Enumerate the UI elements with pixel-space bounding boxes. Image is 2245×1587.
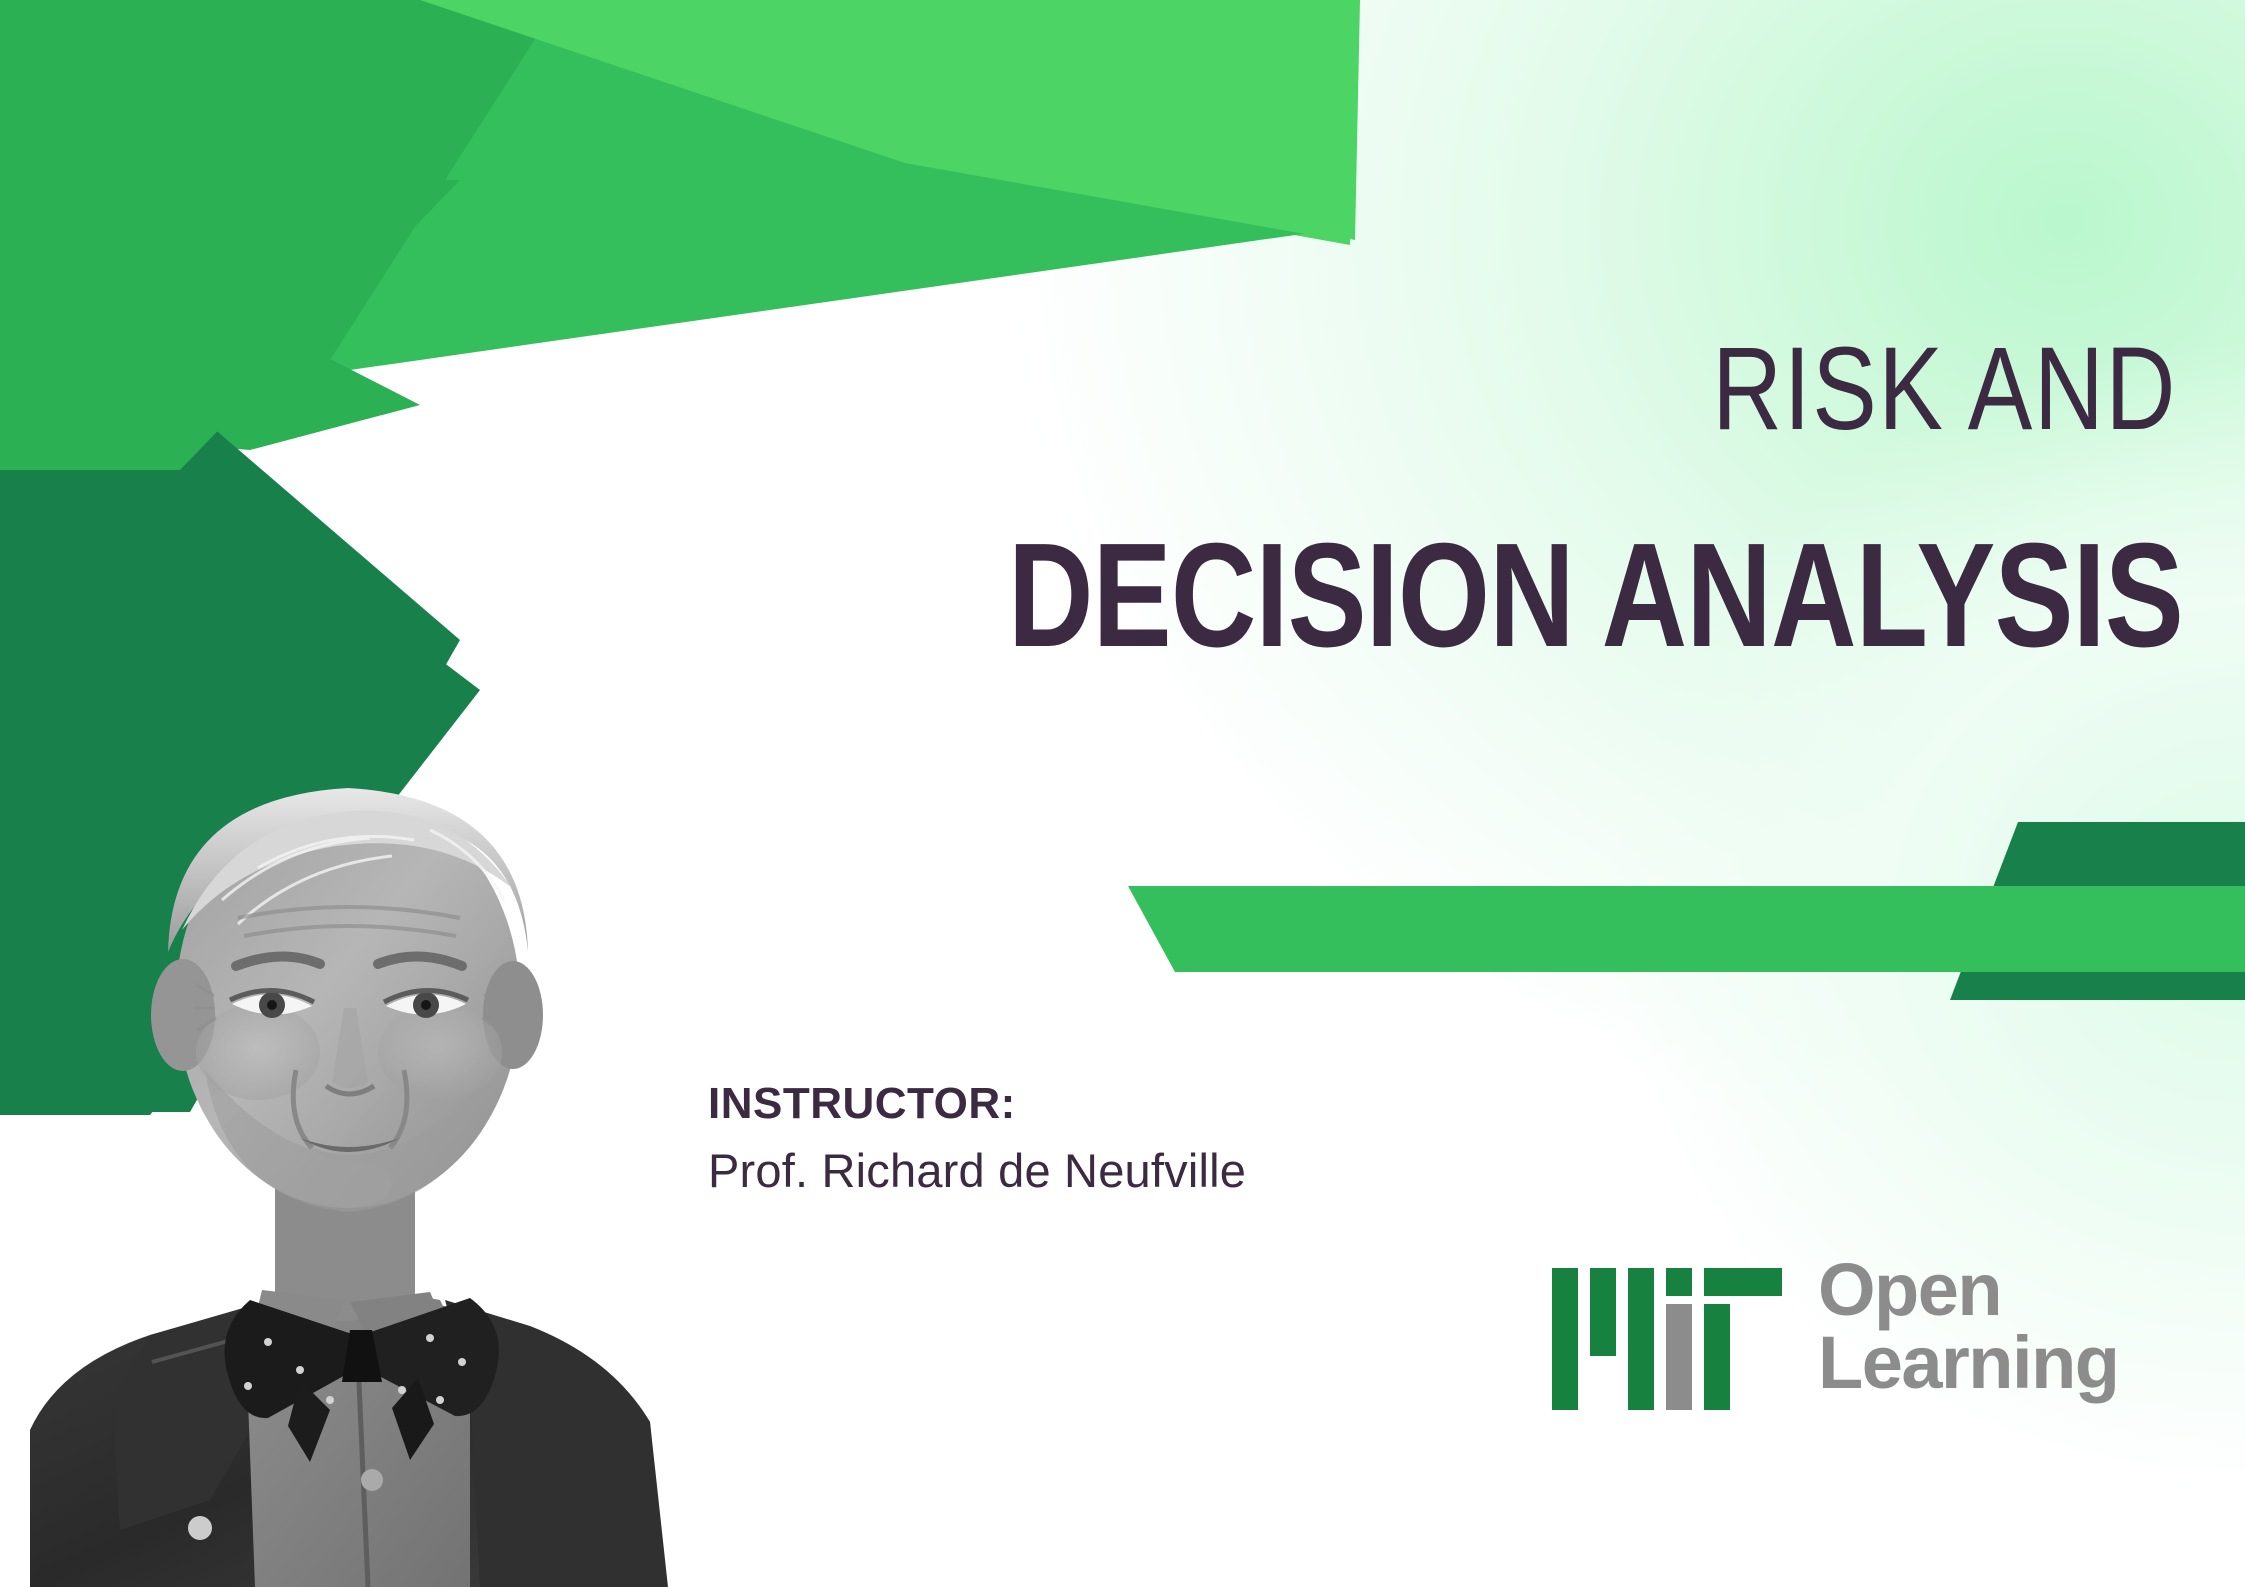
open-learning-wordmark: Open Learning bbox=[1818, 1252, 2118, 1399]
logo-text-open: Open bbox=[1818, 1248, 2001, 1331]
mit-bar-1 bbox=[1552, 1268, 1578, 1410]
mit-bar-2 bbox=[1590, 1268, 1616, 1356]
instructor-portrait bbox=[0, 600, 720, 1587]
course-title-line-2: DECISION ANALYSIS bbox=[743, 522, 2183, 670]
mit-bar-4-dot bbox=[1666, 1268, 1692, 1296]
instructor-name: Prof. Richard de Neufville bbox=[708, 1140, 1246, 1201]
mit-bar-5-t-stem bbox=[1704, 1304, 1730, 1410]
course-promo-card: RISK AND DECISION ANALYSIS INSTRUCTOR: P… bbox=[0, 0, 2245, 1587]
instructor-label: INSTRUCTOR: bbox=[708, 1078, 1246, 1130]
mit-logo-mark bbox=[1552, 1252, 1782, 1410]
chin bbox=[304, 1160, 392, 1208]
shirt-button bbox=[361, 1469, 383, 1491]
logo-text-learning: Learning bbox=[1818, 1327, 2118, 1400]
course-title-line-1: RISK AND bbox=[1029, 330, 2177, 448]
instructor-block: INSTRUCTOR: Prof. Richard de Neufville bbox=[708, 1078, 1246, 1201]
mit-t-crossbar bbox=[1704, 1268, 1782, 1296]
mit-open-learning-logo: Open Learning bbox=[1552, 1252, 2118, 1410]
mit-bar-3 bbox=[1628, 1268, 1654, 1410]
jacket-snap bbox=[188, 1516, 212, 1540]
mit-bar-4-gray-stem bbox=[1666, 1304, 1692, 1410]
